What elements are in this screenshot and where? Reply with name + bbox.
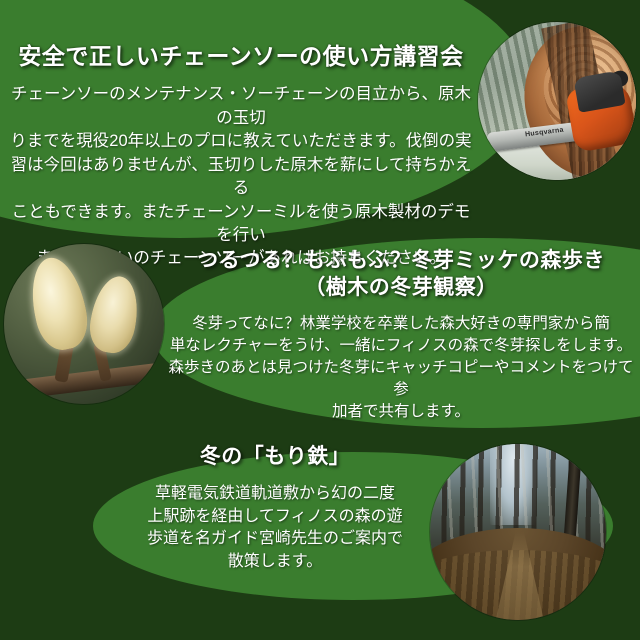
section-winter-buds-body: 冬芽ってなに？林業学校を卒業した森大好きの専門家から簡 単なレクチャーをうけ、一… (168, 313, 634, 423)
event-poster: 安全で正しいチェーンソーの使い方講習会 チェーンソーのメンテナンス・ソーチェーン… (0, 0, 640, 640)
section-chainsaw-heading: 安全で正しいチェーンソーの使い方講習会 (6, 42, 476, 71)
section-mori-tetsu: 冬の「もり鉄」 草軽電気鉄道軌道敷から幻の二度 上駅跡を経由してフィノスの森の遊… (110, 444, 440, 574)
section-winter-buds-heading: つるつる？もふもふ？冬芽ミッケの森歩き （樹木の冬芽観察） (168, 248, 634, 302)
forest-trail-photo (430, 444, 606, 620)
winter-buds-photo (4, 244, 164, 404)
section-mori-tetsu-heading: 冬の「もり鉄」 (110, 444, 440, 471)
section-mori-tetsu-body: 草軽電気鉄道軌道敷から幻の二度 上駅跡を経由してフィノスの森の遊 歩道を名ガイド… (110, 483, 440, 574)
section-chainsaw-body: チェーンソーのメンテナンス・ソーチェーンの目立から、原木の玉切 りまでを現役20… (6, 83, 476, 270)
section-chainsaw: 安全で正しいチェーンソーの使い方講習会 チェーンソーのメンテナンス・ソーチェーン… (6, 42, 476, 271)
chainsaw-on-log-photo: Husqvarna (478, 22, 636, 180)
section-winter-buds: つるつる？もふもふ？冬芽ミッケの森歩き （樹木の冬芽観察） 冬芽ってなに？林業学… (168, 248, 634, 423)
